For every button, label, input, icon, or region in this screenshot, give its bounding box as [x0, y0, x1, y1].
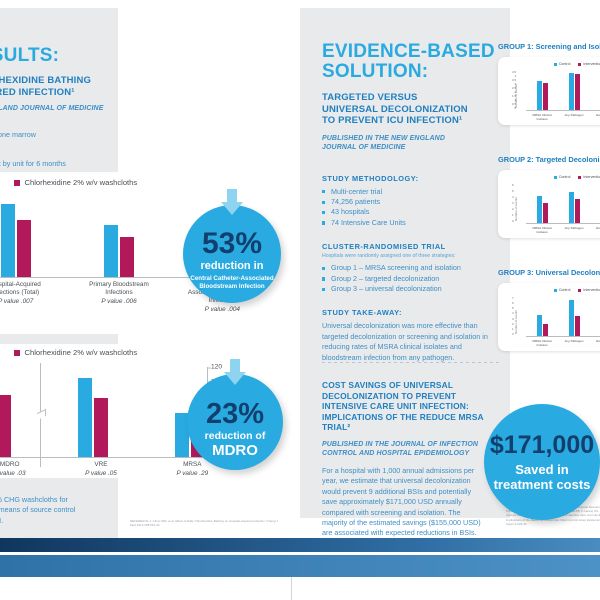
- chart-group-3-xlabels: MRSA Clinical Cultures Any Pathogen Gram…: [526, 340, 600, 347]
- bar-intervention: [543, 203, 548, 223]
- bar-group: [569, 300, 580, 336]
- left-reference: REFERENCE 1: Climo MW, et al. Effect of …: [130, 519, 280, 527]
- x-axis-label: Primary Bloodstream Infections P value .…: [81, 281, 157, 314]
- x-axis-category: Hospital-Acquired Infections (Total): [0, 281, 41, 296]
- chart-group-2-plot: [526, 183, 600, 224]
- list-item: 74 Intensive Care Units: [322, 218, 502, 228]
- footer-band-light: [0, 555, 600, 577]
- summary-line-3: ion and BSI.: [0, 516, 124, 526]
- x-axis-label: Hospital-Acquired Infections (Total) P v…: [0, 281, 54, 314]
- callout-23: 23% reduction of MDRO: [187, 374, 283, 470]
- y-tick: 2: [512, 322, 514, 326]
- list-item: Multi-center trial: [322, 187, 502, 197]
- footer-band-dark: [0, 538, 600, 552]
- x-axis-pvalue: P value .05: [63, 470, 139, 478]
- cost-heading: COST SAVINGS OF UNIVERSAL DECOLONIZATION…: [322, 380, 497, 433]
- callout-savings-line1: Saved in: [515, 462, 568, 477]
- y-tick: 7: [512, 296, 514, 300]
- legend-swatch-treatment: [14, 180, 20, 186]
- x-axis-label: Gram-Negative: [593, 227, 600, 234]
- list-item: Group 1 – MRSA screening and isolation: [322, 263, 502, 273]
- x-axis-category: Primary Bloodstream Infections: [89, 281, 149, 296]
- bar-control: [104, 225, 118, 277]
- x-axis-pvalue: P value .03: [0, 470, 48, 478]
- methodology-list: Multi-center trial 74,256 patients 43 ho…: [322, 187, 502, 229]
- chart-group-2-body: Number of events 6 5 4 3 2 1 0: [502, 183, 600, 234]
- chart-group-2: Control Intervention Number of events 6 …: [498, 170, 600, 238]
- chart-group-3-yticks: 7 6 5 4 3 2 1 0: [512, 296, 514, 336]
- left-detail-2: hs: [0, 148, 264, 158]
- chart-group-1: Control Intervention Number of events 4.…: [498, 57, 600, 125]
- x-axis-label: VRE P value .05: [63, 461, 139, 478]
- legend-item-control: Control: [554, 62, 571, 66]
- section-divider: [322, 362, 502, 363]
- legend-item-control: Control: [554, 288, 571, 292]
- y-tick: 2: [512, 207, 514, 211]
- chart-group-1-bars: [526, 70, 600, 110]
- x-axis-label: MRSA Clinical Cultures: [529, 340, 555, 347]
- y-tick: 4: [512, 311, 514, 315]
- bar-group: [104, 225, 134, 277]
- chart-group-2-ylabel: Number of events: [514, 197, 518, 221]
- legend-label-treatment: Chlorhexidine 2% w/v washcloths: [24, 178, 137, 187]
- page-seam: [291, 577, 292, 600]
- bar-intervention: [575, 316, 580, 336]
- callout-savings-line2: treatment costs: [494, 477, 591, 492]
- legend-item-intervention: Intervention: [578, 62, 600, 66]
- bar-intervention: [575, 199, 580, 223]
- legend-item-treatment: Chlorhexidine 2% w/v washcloths: [14, 178, 137, 187]
- chart-group-1-xlabels: MRSA Clinical Cultures Any Pathogen Gram…: [526, 114, 600, 121]
- chart-group-3-ylabel: Number of events: [514, 310, 518, 334]
- y-tick: 5: [512, 189, 514, 193]
- legend-label-intervention: Intervention: [583, 175, 600, 179]
- cost-body: For a hospital with 1,000 annual admissi…: [322, 466, 482, 538]
- callout-savings-value: $171,000: [490, 432, 594, 459]
- y-tick: 4: [512, 195, 514, 199]
- y-tick: 1: [512, 327, 514, 331]
- x-axis-label: Any Pathogen: [561, 340, 587, 347]
- x-axis-label: Gram-Negative: [593, 340, 600, 347]
- left-page-subtitle: CHLORHEXIDINE BATHING ACQUIRED INFECTION…: [0, 75, 264, 98]
- legend-label-intervention: Intervention: [583, 62, 600, 66]
- chart-group-1-legend: Control Intervention: [502, 62, 600, 66]
- summary-line-2: n effective means of source control: [0, 505, 124, 515]
- left-summary-text: e use of 2% CHG washcloths for n effecti…: [0, 495, 124, 526]
- chart-group-1-title: GROUP 1: Screening and Isolation: [498, 42, 600, 51]
- right-page-title: EVIDENCE-BASED SOLUTION:: [322, 42, 502, 82]
- bar-control: [537, 81, 542, 110]
- bar-group: [1, 204, 31, 277]
- right-heading-group: EVIDENCE-BASED SOLUTION: TARGETED VERSUS…: [322, 42, 502, 363]
- cluster-note: Hospitals were randomly assigned one of …: [322, 253, 502, 260]
- brochure-spread: RESULTS: CHLORHEXIDINE BATHING ACQUIRED …: [0, 0, 600, 600]
- legend-label-intervention: Intervention: [583, 288, 600, 292]
- x-axis-category: MRSA: [183, 461, 201, 468]
- chart-group-1-body: Number of events 4.5 4 3.5 3 2.5 2 1.5 1…: [502, 70, 600, 121]
- cluster-label: CLUSTER-RANDOMISED TRIAL: [322, 242, 502, 252]
- chart-group-1-wrap: GROUP 1: Screening and Isolation Control…: [498, 42, 600, 125]
- legend-item-control: Control: [554, 175, 571, 179]
- left-detail-3: assignment by unit for 6 months: [0, 159, 264, 169]
- bar-control: [537, 196, 542, 223]
- chart-group-2-wrap: GROUP 2: Targeted Decolonization Control…: [498, 155, 600, 238]
- y-tick: 6: [512, 183, 514, 187]
- legend-swatch-control: [554, 289, 557, 292]
- bar-control: [569, 73, 574, 110]
- legend-swatch-control: [554, 176, 557, 179]
- chart-mdro-legend: Control Chlorhexidine 2% w/v washcloths: [0, 348, 274, 357]
- footer-band: [0, 538, 600, 600]
- x-axis-label: Gram-Negative: [593, 114, 600, 121]
- bar-intervention: [575, 74, 580, 110]
- list-item: Group 2 – targeted decolonization: [322, 274, 502, 284]
- bar-control: [537, 315, 542, 336]
- chart-group-3-wrap: GROUP 3: Universal Decolonization Contro…: [498, 268, 600, 351]
- x-axis-pvalue: P value .004: [184, 306, 260, 314]
- takeaway-text: Universal decolonization was more effect…: [322, 321, 488, 363]
- chart-group-2-legend: Control Intervention: [502, 175, 600, 179]
- chart-group-3-legend: Control Intervention: [502, 288, 600, 292]
- chart-group-3-title: GROUP 3: Universal Decolonization: [498, 268, 600, 277]
- y-tick: 120: [211, 364, 222, 371]
- bar-group: [537, 81, 548, 110]
- callout-53-value: 53%: [202, 229, 262, 259]
- left-detail-1: care and bone marrow: [0, 130, 264, 140]
- callout-savings: $171,000 Saved in treatment costs: [484, 404, 600, 520]
- x-axis-category: MDRO: [0, 461, 19, 468]
- bar-intervention: [543, 324, 548, 336]
- legend-label-control: Control: [559, 175, 571, 179]
- bar-intervention: [543, 83, 548, 110]
- methodology-label: STUDY METHODOLOGY:: [322, 174, 502, 184]
- x-axis-pvalue: P value .29: [154, 470, 230, 478]
- left-heading-group: RESULTS: CHLORHEXIDINE BATHING ACQUIRED …: [0, 46, 264, 169]
- callout-53-line1: reduction in: [201, 260, 264, 273]
- chart-group-3-body: Number of events 7 6 5 4 3 2 1 0: [502, 296, 600, 347]
- legend-label-control: Control: [559, 62, 571, 66]
- legend-label-treatment: Chlorhexidine 2% w/v washcloths: [24, 348, 137, 357]
- x-axis-label: MRSA Clinical Cultures: [529, 227, 555, 234]
- bar-group: [569, 73, 580, 110]
- bar-group: [569, 192, 580, 223]
- bar-group: [78, 378, 108, 457]
- legend-swatch-intervention: [578, 289, 581, 292]
- chart-group-1-plot: [526, 70, 600, 111]
- chart-group-3-bars: [526, 296, 600, 336]
- callout-23-value: 23%: [206, 400, 264, 429]
- legend-swatch-treatment: [14, 350, 20, 356]
- chart-group-3: Control Intervention Number of events 7 …: [498, 283, 600, 351]
- y-tick: 5: [512, 306, 514, 310]
- bar-treatment: [120, 237, 134, 277]
- cluster-group-list: Group 1 – MRSA screening and isolation G…: [322, 263, 502, 294]
- legend-swatch-control: [554, 63, 557, 66]
- bar-control: [569, 300, 574, 336]
- legend-swatch-intervention: [578, 63, 581, 66]
- legend-item-intervention: Intervention: [578, 175, 600, 179]
- chart-mdro-xlabels: MDRO P value .03 VRE P value .05 MRSA P …: [0, 461, 238, 478]
- y-tick: 6: [512, 301, 514, 305]
- cost-section: COST SAVINGS OF UNIVERSAL DECOLONIZATION…: [322, 380, 502, 538]
- y-tick: 0: [515, 106, 517, 110]
- left-mid-strip: [0, 334, 118, 344]
- x-axis-pvalue: P value .006: [81, 298, 157, 306]
- summary-line-1: e use of 2% CHG washcloths for: [0, 495, 124, 505]
- footer-whitespace: [0, 577, 600, 600]
- right-page-published: PUBLISHED IN THE NEW ENGLAND JOURNAL OF …: [322, 134, 474, 152]
- y-tick: 3: [512, 201, 514, 205]
- chart-group-2-title: GROUP 2: Targeted Decolonization: [498, 155, 600, 164]
- takeaway-label: STUDY TAKE-AWAY:: [322, 308, 502, 318]
- y-tick: 1: [512, 213, 514, 217]
- chart-group-2-xlabels: MRSA Clinical Cultures Any Pathogen Gram…: [526, 227, 600, 234]
- y-tick: 3: [512, 317, 514, 321]
- x-axis-label: MRSA Clinical Cultures: [529, 114, 555, 121]
- right-page-subtitle: TARGETED VERSUS UNIVERSAL DECOLONIZATION…: [322, 92, 472, 127]
- bar-treatment: [94, 398, 108, 457]
- x-axis-category: VRE: [94, 461, 107, 468]
- y-tick: 0: [512, 219, 514, 223]
- chart-group-3-plot: [526, 296, 600, 337]
- list-item: 74,256 patients: [322, 197, 502, 207]
- chart-infections-legend: Control Chlorhexidine 2% w/v washcloths: [0, 178, 274, 187]
- x-axis-label: Any Pathogen: [561, 227, 587, 234]
- callout-23-line2: MDRO: [212, 442, 258, 459]
- callout-23-line1: reduction of: [205, 430, 266, 442]
- bar-control: [1, 204, 15, 277]
- legend-label-control: Control: [559, 288, 571, 292]
- bar-treatment: [17, 220, 31, 277]
- bar-group: [537, 315, 548, 336]
- legend-item-intervention: Intervention: [578, 288, 600, 292]
- callout-53: 53% reduction in Central Catheter-Associ…: [183, 205, 281, 303]
- list-item: Group 3 – universal decolonization: [322, 284, 502, 294]
- y-tick: 0: [512, 332, 514, 336]
- list-item: 43 hospitals: [322, 207, 502, 217]
- x-axis-label: Any Pathogen: [561, 114, 587, 121]
- bar-control: [569, 192, 574, 223]
- legend-item-treatment: Chlorhexidine 2% w/v washcloths: [14, 348, 137, 357]
- cost-published: PUBLISHED IN THE JOURNAL OF INFECTION CO…: [322, 440, 482, 458]
- left-page-published: NEW ENGLAND JOURNAL OF MEDICINE: [0, 104, 264, 113]
- chart-group-1-yticks: 4.5 4 3.5 3 2.5 2 1.5 1 0.5 0: [512, 70, 516, 110]
- chart-group-2-yticks: 6 5 4 3 2 1 0: [512, 183, 514, 223]
- bar-group: [537, 196, 548, 223]
- left-page-title: RESULTS:: [0, 46, 264, 66]
- bar-group: [0, 395, 11, 457]
- bar-treatment: [0, 395, 11, 457]
- x-axis-pvalue: P value .007: [0, 298, 54, 306]
- callout-53-line2: Central Catheter-Associated Bloodstream …: [190, 275, 273, 291]
- bar-control: [78, 378, 92, 457]
- chart-group-2-bars: [526, 183, 600, 223]
- legend-swatch-intervention: [578, 176, 581, 179]
